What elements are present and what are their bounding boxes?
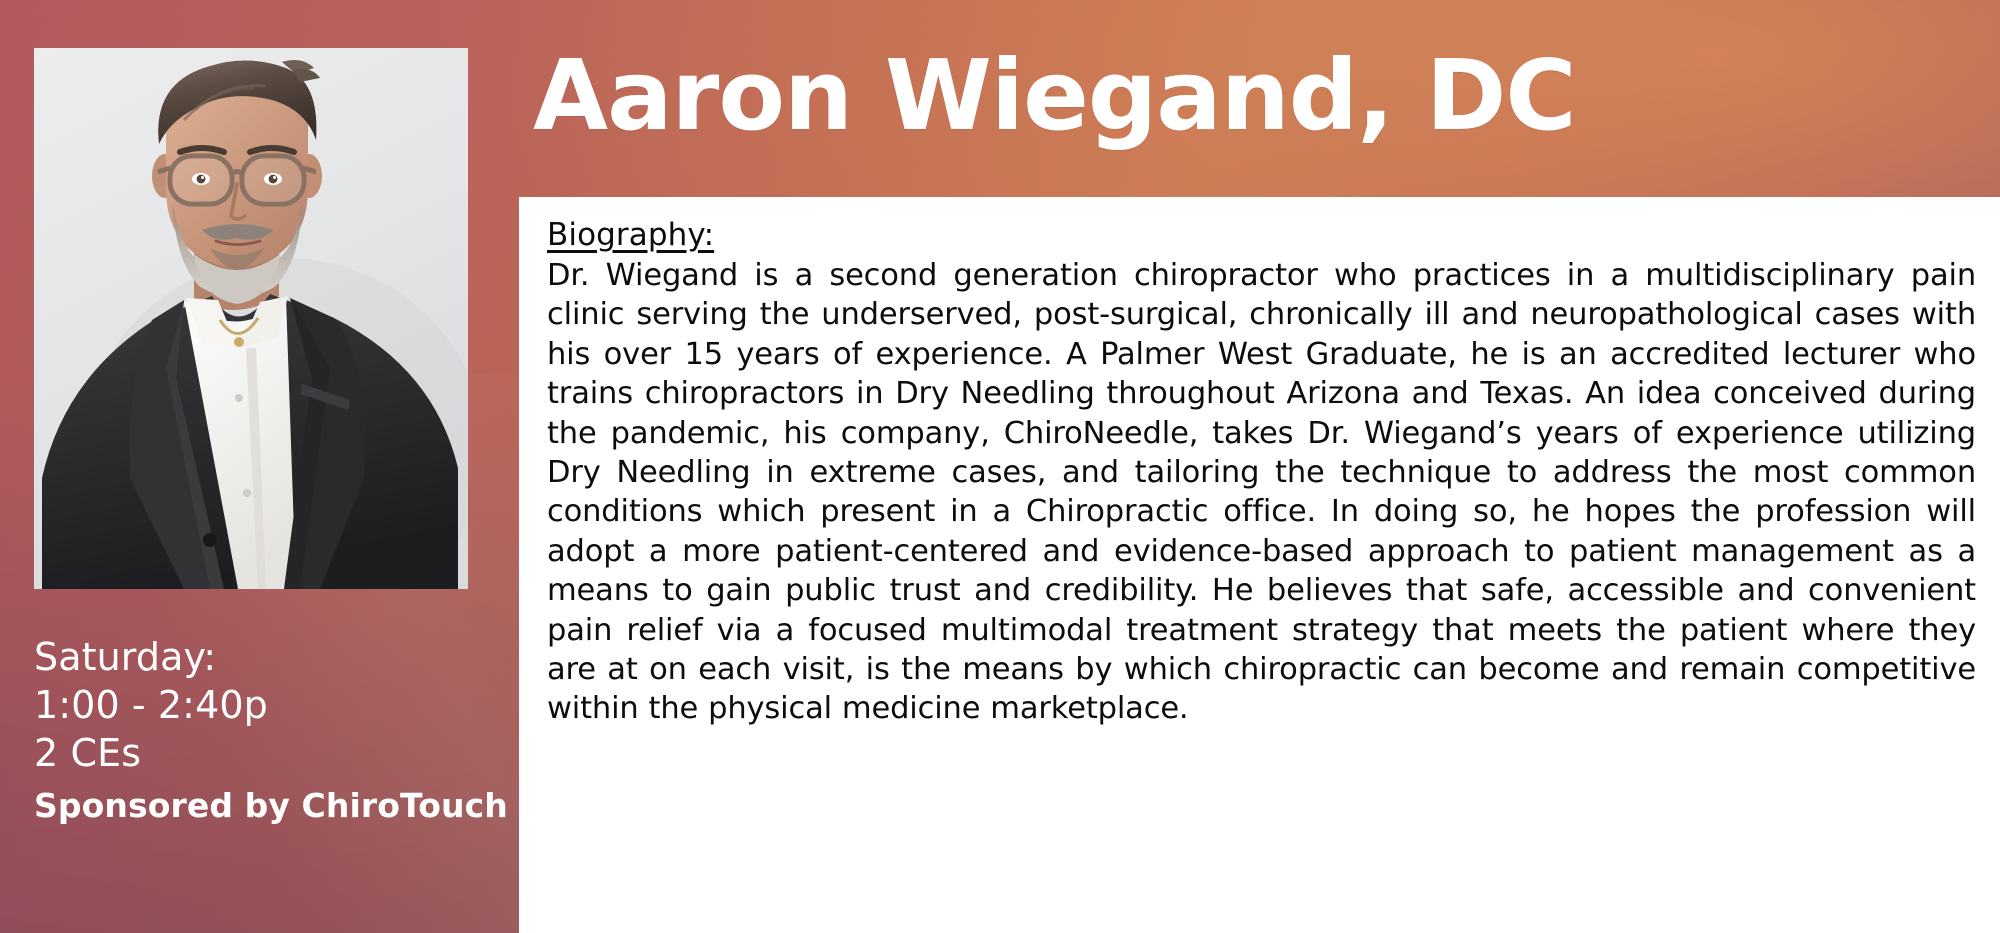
biography-text: Dr. Wiegand is a second generation chiro…	[547, 256, 1976, 729]
speaker-portrait-illustration	[34, 48, 468, 589]
schedule-time: 1:00 - 2:40p	[34, 682, 494, 730]
schedule-block: Saturday: 1:00 - 2:40p 2 CEs Sponsored b…	[34, 634, 494, 826]
speaker-bio-slide: Saturday: 1:00 - 2:40p 2 CEs Sponsored b…	[0, 0, 2000, 933]
schedule-sponsor: Sponsored by ChiroTouch	[34, 785, 494, 827]
schedule-day: Saturday:	[34, 634, 494, 682]
speaker-name: Aaron Wiegand, DC	[533, 44, 1576, 149]
left-panel: Saturday: 1:00 - 2:40p 2 CEs Sponsored b…	[0, 0, 519, 933]
biography-card: Biography: Dr. Wiegand is a second gener…	[519, 197, 2000, 933]
speaker-photo	[34, 48, 468, 589]
schedule-credits: 2 CEs	[34, 730, 494, 778]
biography-heading: Biography:	[547, 217, 714, 253]
